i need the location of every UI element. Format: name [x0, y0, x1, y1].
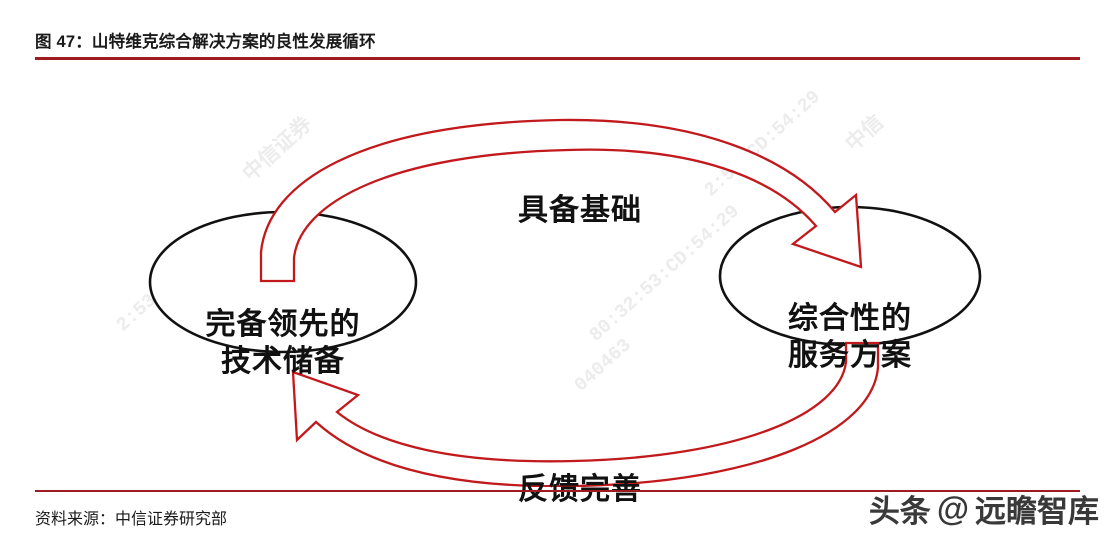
brand-prefix: 头条 [869, 486, 931, 531]
node-left-line1: 完备领先的 [150, 307, 416, 344]
node-right-line1: 综合性的 [718, 301, 982, 338]
at-icon: @ [937, 490, 969, 528]
title-divider [35, 57, 1080, 60]
node-right-line2: 服务方案 [718, 338, 982, 375]
edge-label-bottom: 反馈完善 [430, 464, 730, 508]
brand-watermark: 头条 @ 远瞻智库 [869, 486, 1099, 531]
figure-page: 中信证券 中信 2:53:CD:54:29 80:32:53:CD:54:29 … [0, 0, 1115, 539]
brand-name: 远瞻智库 [975, 486, 1099, 531]
page-title: 图 47：山特维克综合解决方案的良性发展循环 [35, 28, 376, 52]
node-label-right: 综合性的 服务方案 [718, 301, 982, 374]
source-note: 资料来源：中信证券研究部 [35, 505, 227, 529]
node-left-line2: 技术储备 [150, 344, 416, 381]
node-label-left: 完备领先的 技术储备 [150, 307, 416, 380]
cycle-diagram: 完备领先的 技术储备 综合性的 服务方案 具备基础 反馈完善 [0, 62, 1115, 487]
edge-label-top: 具备基础 [430, 185, 730, 229]
